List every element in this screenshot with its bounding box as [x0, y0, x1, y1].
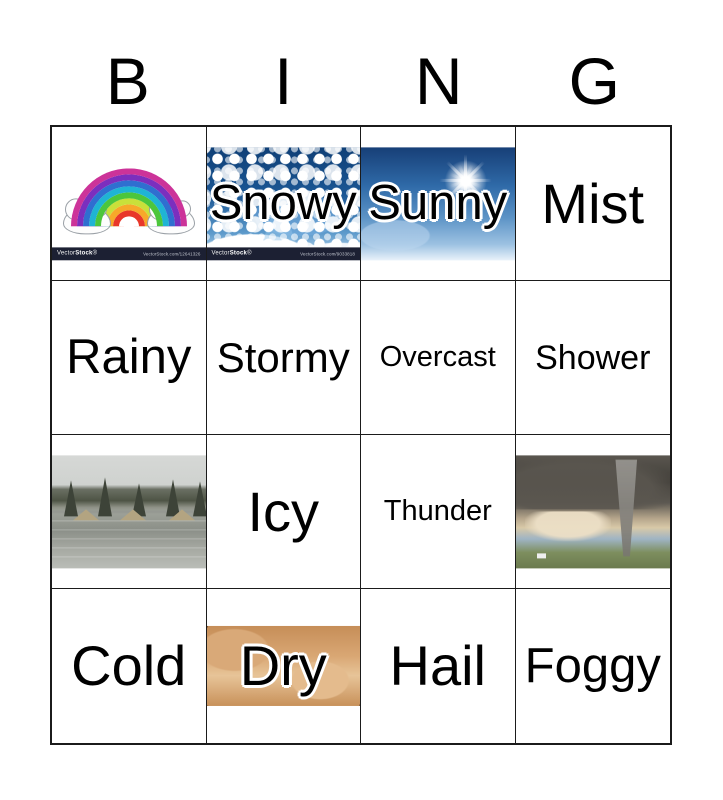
- bingo-cell-label: Foggy: [524, 642, 662, 691]
- bingo-card: B I N G VectorStock®VectorStock.com/1264…: [0, 0, 723, 800]
- flood-image: [52, 455, 206, 568]
- vehicle: [537, 553, 546, 558]
- water-ripple: [52, 530, 206, 531]
- wall-cloud: [525, 512, 612, 541]
- tree-silhouette: [98, 477, 112, 516]
- rainbow-image: VectorStock®VectorStock.com/12641326: [52, 147, 206, 260]
- header-letter-g: G: [517, 38, 673, 124]
- bingo-grid: VectorStock®VectorStock.com/12641326Vect…: [50, 125, 672, 745]
- bingo-cell-label: Sunny: [367, 179, 508, 228]
- vectorstock-watermark-bar: VectorStock®VectorStock.com/12641326: [52, 247, 206, 260]
- bingo-cell-label: Cold: [70, 638, 187, 694]
- submerged-roof: [169, 510, 195, 521]
- bingo-header-row: B I N G: [50, 38, 672, 124]
- watermark-credit: VectorStock.com/12641326: [143, 251, 200, 256]
- water-ripple: [52, 539, 206, 540]
- bingo-cell-n1[interactable]: Sunny: [361, 127, 516, 281]
- bingo-cell-b3[interactable]: [52, 435, 207, 589]
- bingo-cell-b4[interactable]: Cold: [52, 589, 207, 743]
- storm-cloud-mass: [516, 455, 671, 509]
- water-ripple: [52, 557, 206, 558]
- bingo-cell-n4[interactable]: Hail: [361, 589, 516, 743]
- water-ripple: [52, 548, 206, 549]
- watermark-brand: VectorStock®: [212, 251, 252, 257]
- rainbow-band: [71, 168, 187, 226]
- bingo-cell-b2[interactable]: Rainy: [52, 281, 207, 435]
- tree-silhouette: [193, 481, 205, 516]
- bingo-cell-i1[interactable]: VectorStock®VectorStock.com/9033818Snowy: [207, 127, 362, 281]
- bingo-cell-g2[interactable]: Shower: [516, 281, 671, 435]
- submerged-roof: [120, 510, 146, 521]
- tornado-image: [516, 455, 671, 568]
- header-letter-n: N: [361, 38, 517, 124]
- bingo-cell-i2[interactable]: Stormy: [207, 281, 362, 435]
- bingo-cell-label: Hail: [389, 638, 487, 694]
- water-ripple: [52, 521, 206, 522]
- bingo-cell-label: Snowy: [209, 179, 358, 228]
- bingo-cell-label: Thunder: [383, 497, 493, 526]
- header-letter-i: I: [206, 38, 362, 124]
- bingo-cell-label: Mist: [540, 176, 645, 232]
- bingo-cell-g1[interactable]: Mist: [516, 127, 671, 281]
- bingo-cell-g3[interactable]: [516, 435, 671, 589]
- watermark-brand: VectorStock®: [57, 251, 97, 257]
- bingo-cell-label: Stormy: [216, 337, 351, 379]
- rainbow-graphic: [65, 164, 193, 234]
- submerged-roof: [73, 510, 99, 521]
- bingo-cell-b1[interactable]: VectorStock®VectorStock.com/12641326: [52, 127, 207, 281]
- watermark-credit: VectorStock.com/9033818: [300, 251, 355, 256]
- bingo-cell-n3[interactable]: Thunder: [361, 435, 516, 589]
- bingo-cell-label: Rainy: [65, 333, 192, 382]
- bingo-cell-g4[interactable]: Foggy: [516, 589, 671, 743]
- bingo-cell-i4[interactable]: Dry: [207, 589, 362, 743]
- header-letter-b: B: [50, 38, 206, 124]
- bingo-cell-label: Icy: [246, 484, 320, 540]
- bingo-cell-n2[interactable]: Overcast: [361, 281, 516, 435]
- bingo-cell-label: Dry: [239, 638, 328, 694]
- bingo-cell-label: Overcast: [379, 343, 497, 372]
- vectorstock-watermark-bar: VectorStock®VectorStock.com/9033818: [207, 247, 361, 260]
- bingo-cell-i3[interactable]: Icy: [207, 435, 362, 589]
- bingo-cell-label: Shower: [534, 341, 651, 375]
